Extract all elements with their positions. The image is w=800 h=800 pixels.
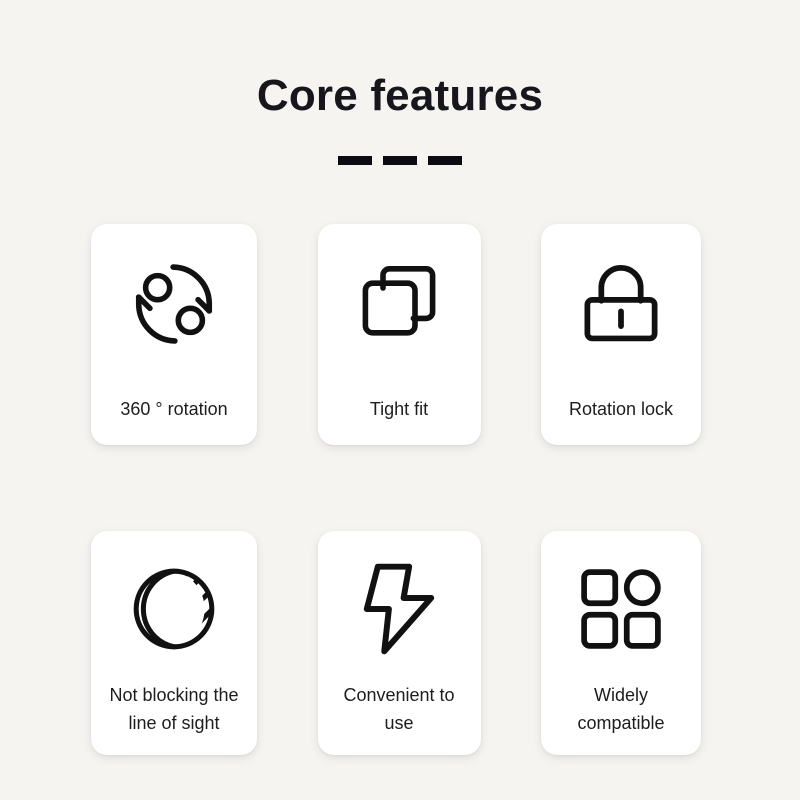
label-container: Convenient to use bbox=[318, 655, 481, 755]
lightning-bolt-icon bbox=[353, 563, 445, 655]
rotation-icon bbox=[128, 258, 220, 350]
grid-shapes-icon bbox=[575, 563, 667, 655]
label-container: Tight fit bbox=[318, 350, 481, 445]
feature-card-convenient-to-use[interactable]: Convenient to use bbox=[318, 531, 481, 755]
feature-label: Convenient to use bbox=[318, 681, 481, 737]
triple-dash-divider bbox=[338, 156, 462, 165]
divider-dash-3 bbox=[428, 156, 462, 165]
circle-top-right bbox=[627, 572, 658, 603]
section-header: Core features bbox=[0, 0, 800, 165]
label-container: Rotation lock bbox=[541, 350, 701, 445]
lock-icon bbox=[575, 258, 667, 350]
divider-dash-1 bbox=[338, 156, 372, 165]
square-top-left bbox=[584, 572, 615, 603]
feature-label: Rotation lock bbox=[541, 395, 701, 423]
feature-grid: 360 ° rotation Tight fit bbox=[91, 224, 701, 755]
label-container: Not blocking the line of sight bbox=[91, 655, 257, 755]
square-bottom-right bbox=[627, 615, 658, 646]
feature-label: Tight fit bbox=[318, 395, 481, 423]
feature-card-rotation-lock[interactable]: Rotation lock bbox=[541, 224, 701, 445]
hatched-circle-icon bbox=[128, 563, 220, 655]
feature-card-360-rotation[interactable]: 360 ° rotation bbox=[91, 224, 257, 445]
label-container: Widely compatible bbox=[541, 655, 701, 755]
divider-dash-2 bbox=[383, 156, 417, 165]
feature-card-not-blocking-line-of-sight[interactable]: Not blocking the line of sight bbox=[91, 531, 257, 755]
feature-section-page: Core features 360 ° rotation bbox=[0, 0, 800, 800]
feature-card-tight-fit[interactable]: Tight fit bbox=[318, 224, 481, 445]
feature-card-widely-compatible[interactable]: Widely compatible bbox=[541, 531, 701, 755]
feature-label: Widely compatible bbox=[541, 681, 701, 737]
layers-squares-icon bbox=[353, 258, 445, 350]
feature-label: Not blocking the line of sight bbox=[91, 681, 257, 737]
feature-label: 360 ° rotation bbox=[91, 395, 257, 423]
page-title: Core features bbox=[0, 74, 800, 118]
label-container: 360 ° rotation bbox=[91, 350, 257, 445]
square-bottom-left bbox=[584, 615, 615, 646]
